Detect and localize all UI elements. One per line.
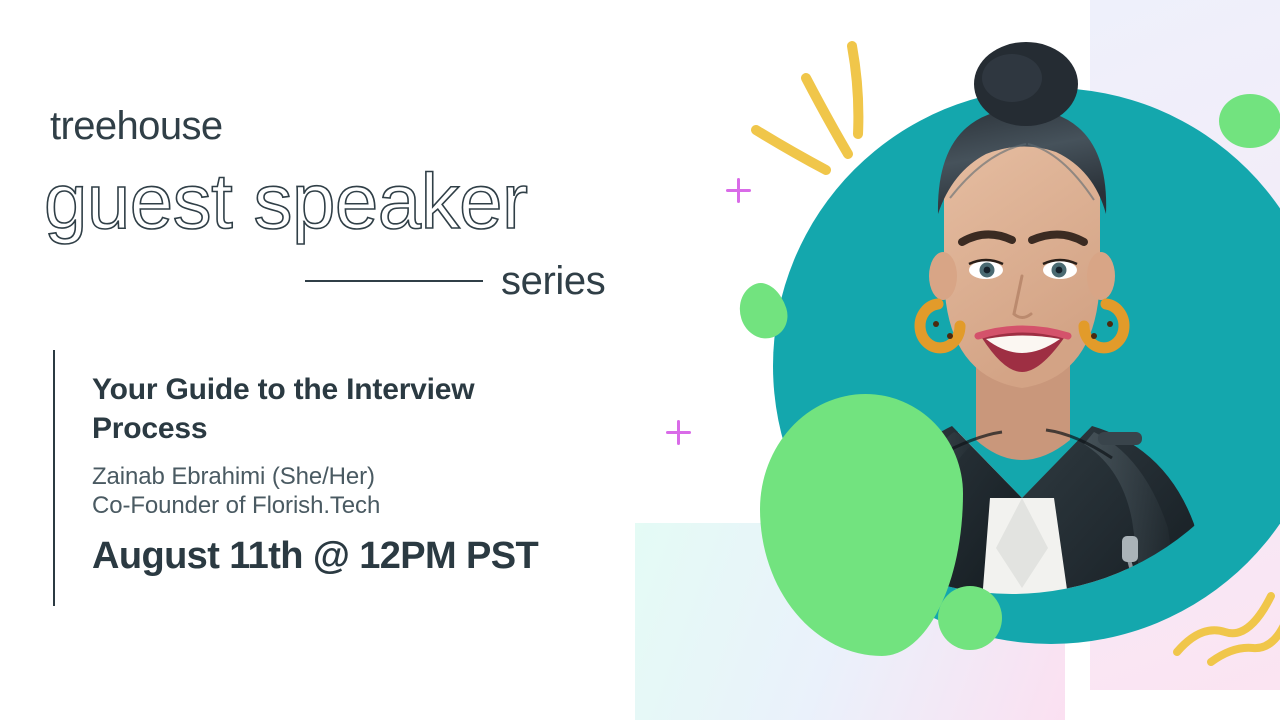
talk-title: Your Guide to the Interview Process (92, 370, 562, 448)
details-accent-rule (53, 350, 55, 606)
event-datetime: August 11th @ 12PM PST (92, 536, 538, 578)
promo-slide: treehouse guest speaker series Your Guid… (0, 0, 1280, 720)
headline-guest-speaker: guest speaker (44, 162, 527, 240)
plus-mark-icon-upper (726, 178, 751, 203)
series-divider-rule (305, 280, 483, 282)
series-row: series (305, 258, 625, 304)
speaker-role: Co-Founder of Florish.Tech (92, 491, 380, 522)
yellow-wavy-lines-bottom (1175, 570, 1280, 665)
yellow-brush-strokes-top (748, 34, 898, 179)
series-label: series (501, 261, 605, 301)
plus-mark-icon-lower (666, 420, 691, 445)
treehouse-wordmark: treehouse (50, 106, 223, 146)
speaker-name: Zainab Ebrahimi (She/Her) (92, 462, 375, 493)
green-circle-decoration-bottom (938, 586, 1002, 650)
